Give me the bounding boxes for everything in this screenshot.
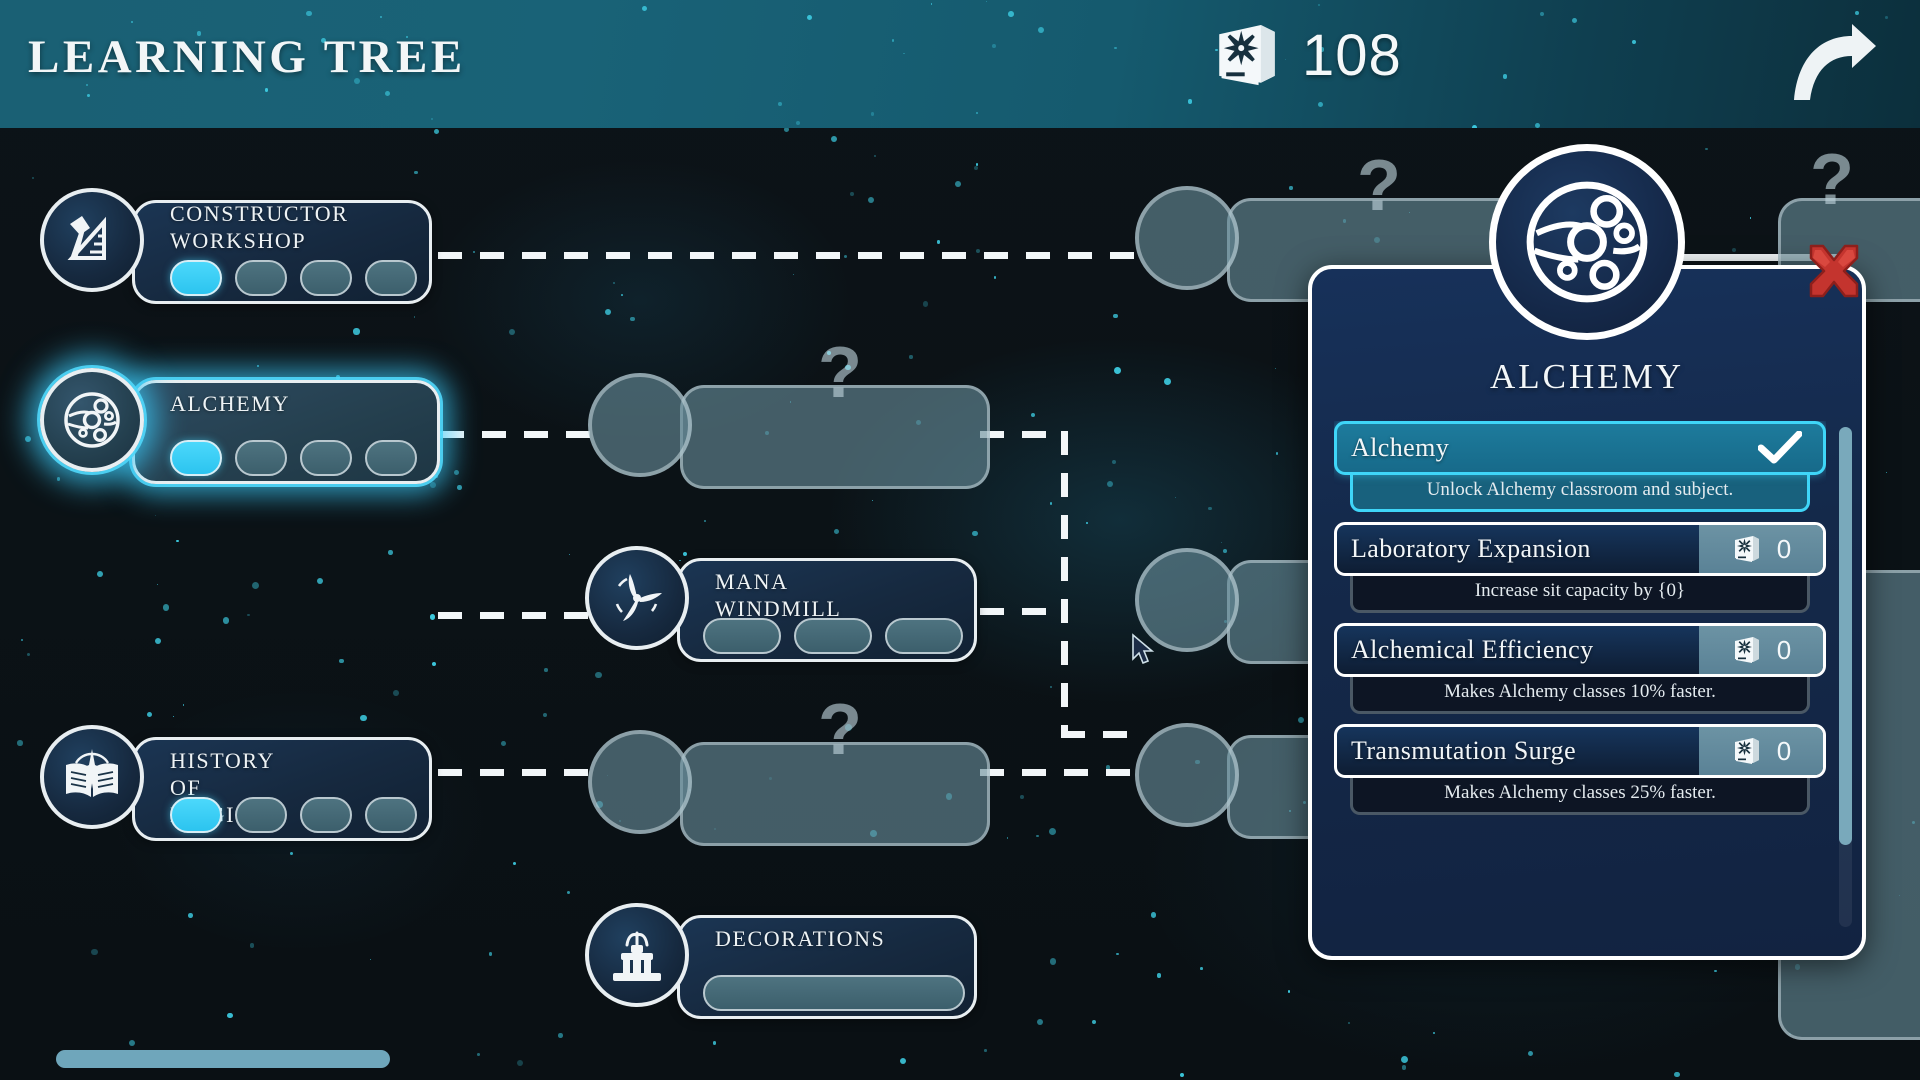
skill-row-transmutation-surge[interactable]: Transmutation Surge — [1334, 724, 1826, 815]
checkmark-icon — [1758, 431, 1802, 465]
node-icon-circle — [40, 188, 144, 292]
node-progress-pips — [170, 797, 417, 833]
panel-vertical-scrollbar[interactable] — [1839, 427, 1852, 927]
node-progress-pips — [703, 975, 965, 1011]
close-panel-button[interactable] — [1801, 238, 1867, 304]
skill-list[interactable]: Alchemy Unlock Alchemy classroom and sub… — [1334, 421, 1826, 931]
progress-pip — [300, 440, 352, 476]
node-icon-circle — [40, 725, 144, 829]
progress-pip — [170, 260, 222, 296]
connector-line — [1061, 731, 1141, 738]
red-cross-close-icon — [1801, 238, 1867, 304]
skill-header[interactable]: Alchemy — [1334, 421, 1826, 475]
progress-pip — [235, 440, 287, 476]
progress-pip — [300, 260, 352, 296]
header-bar: LEARNING TREE 108 — [0, 0, 1920, 128]
node-label: DECORATIONS — [715, 925, 885, 952]
connector-line — [438, 769, 600, 776]
progress-pip — [794, 618, 872, 654]
connector-line — [1061, 431, 1068, 738]
locked-question-mark: ? — [1810, 139, 1854, 221]
skill-description: Increase sit capacity by {0} — [1350, 573, 1810, 613]
alchemy-circle-icon — [60, 388, 124, 452]
node-icon-circle — [588, 373, 692, 477]
scrollbar-thumb[interactable] — [56, 1050, 390, 1068]
skill-header[interactable]: Transmutation Surge — [1334, 724, 1826, 778]
skill-row-laboratory-expansion[interactable]: Laboratory Expansion — [1334, 522, 1826, 613]
mouse-cursor — [1131, 633, 1157, 672]
skill-name: Alchemical Efficiency — [1337, 635, 1699, 665]
skill-cost: 0 — [1699, 525, 1823, 573]
node-label: CONSTRUCTOR WORKSHOP — [170, 200, 349, 254]
alchemy-circle-icon — [1517, 172, 1657, 312]
connector-line — [438, 612, 598, 619]
progress-pip — [885, 618, 963, 654]
skill-cost-value: 0 — [1777, 736, 1791, 767]
progress-pip — [170, 440, 222, 476]
skill-row-alchemy[interactable]: Alchemy Unlock Alchemy classroom and sub… — [1334, 421, 1826, 512]
skill-detail-panel: ALCHEMY Alchemy Unlock Alchemy classroom… — [1308, 265, 1866, 960]
scrollbar-thumb[interactable] — [1839, 427, 1852, 845]
progress-pip — [365, 260, 417, 296]
hammer-ruler-icon — [60, 208, 124, 272]
connector-line — [438, 252, 1138, 259]
panel-emblem — [1489, 144, 1685, 340]
node-icon-circle — [1135, 723, 1239, 827]
progress-pip — [365, 797, 417, 833]
panel-title: ALCHEMY — [1312, 357, 1862, 397]
skill-cost-value: 0 — [1777, 635, 1791, 666]
currency-display: 108 — [1210, 18, 1402, 92]
skill-description: Makes Alchemy classes 10% faster. — [1350, 674, 1810, 714]
progress-pip — [235, 797, 287, 833]
skill-cost: 0 — [1699, 626, 1823, 674]
windmill-turbine-icon — [605, 566, 669, 630]
fountain-icon — [605, 923, 669, 987]
connector-line — [980, 769, 1140, 776]
progress-pip — [703, 975, 965, 1011]
node-label: ALCHEMY — [170, 390, 290, 417]
skill-description: Unlock Alchemy classroom and subject. — [1350, 472, 1810, 512]
skill-name: Laboratory Expansion — [1337, 534, 1699, 564]
exit-button[interactable] — [1782, 16, 1882, 108]
node-progress-pips — [170, 260, 417, 296]
open-book-star-icon — [60, 745, 124, 809]
skill-header[interactable]: Alchemical Efficiency — [1334, 623, 1826, 677]
skill-cost-value: 0 — [1777, 534, 1791, 565]
currency-amount: 108 — [1302, 22, 1402, 89]
page-title: LEARNING TREE — [28, 30, 466, 84]
progress-pip — [235, 260, 287, 296]
tree-horizontal-scrollbar[interactable] — [0, 1050, 1920, 1068]
skill-unlocked-check — [1753, 431, 1807, 465]
node-icon-circle — [585, 903, 689, 1007]
skill-header[interactable]: Laboratory Expansion — [1334, 522, 1826, 576]
progress-pip — [170, 797, 222, 833]
connector-line — [440, 431, 600, 438]
locked-question-mark: ? — [1357, 145, 1401, 227]
node-icon-circle — [588, 730, 692, 834]
progress-pip — [365, 440, 417, 476]
magic-book-icon — [1210, 18, 1284, 92]
progress-pip — [703, 618, 781, 654]
node-icon-circle — [585, 546, 689, 650]
locked-question-mark: ? — [818, 689, 862, 771]
connector-line — [980, 608, 1068, 615]
skill-name: Alchemy — [1337, 433, 1753, 463]
progress-pip — [300, 797, 352, 833]
node-progress-pips — [170, 440, 417, 476]
connector-line — [980, 431, 1068, 438]
locked-question-mark: ? — [818, 332, 862, 414]
skill-cost: 0 — [1699, 727, 1823, 775]
node-icon-circle — [1135, 186, 1239, 290]
magic-book-icon — [1731, 533, 1763, 565]
curved-arrow-right-icon — [1782, 16, 1882, 108]
skill-description: Makes Alchemy classes 25% faster. — [1350, 775, 1810, 815]
magic-book-icon — [1731, 634, 1763, 666]
skill-row-alchemical-efficiency[interactable]: Alchemical Efficiency — [1334, 623, 1826, 714]
node-progress-pips — [703, 618, 963, 654]
node-icon-circle — [40, 368, 144, 472]
skill-name: Transmutation Surge — [1337, 736, 1699, 766]
node-label: MANA WINDMILL — [715, 568, 841, 622]
magic-book-icon — [1731, 735, 1763, 767]
